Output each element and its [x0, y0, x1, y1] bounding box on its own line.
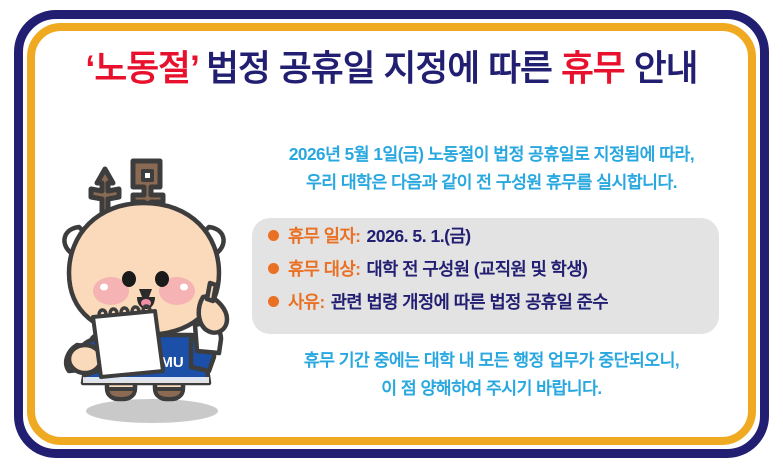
bullet-dot-icon	[268, 296, 279, 307]
intro-line-1: 2026년 5월 1일(금) 노동절이 법정 공휴일로 지정됨에 따라,	[235, 141, 748, 169]
list-item: 휴무 대상: 대학 전 구성원 (교직원 및 학생)	[252, 256, 719, 289]
outro-paragraph: 휴무 기간 중에는 대학 내 모든 행정 업무가 중단되오니, 이 점 양해하여…	[235, 347, 748, 403]
page-title: ‘노동절’ 법정 공휴일 지정에 따른 휴무 안내	[35, 51, 748, 87]
list-item: 사유: 관련 법령 개정에 따른 법정 공휴일 준수	[252, 289, 719, 322]
bullet-dot-icon	[268, 230, 279, 241]
outro-line-1: 휴무 기간 중에는 대학 내 모든 행정 업무가 중단되오니,	[235, 347, 748, 375]
outro-line-2: 이 점 양해하여 주시기 바랍니다.	[235, 375, 748, 403]
title-highlight-term: 휴무	[561, 48, 625, 88]
detail-label: 휴무 일자:	[288, 223, 361, 248]
mascot-eye-left	[122, 271, 136, 287]
title-middle-text: 법정 공휴일 지정에 따른	[198, 48, 561, 88]
list-item: 휴무 일자: 2026. 5. 1.(금)	[252, 223, 719, 256]
notice-poster: ‘노동절’ 법정 공휴일 지정에 따른 휴무 안내	[0, 0, 783, 468]
mascot-shadow	[86, 399, 218, 423]
detail-value: 관련 법령 개정에 따른 법정 공휴일 준수	[331, 289, 608, 314]
mascot-illustration: SMU	[59, 139, 245, 429]
bullet-dot-icon	[268, 263, 279, 274]
detail-value: 2026. 5. 1.(금)	[367, 223, 471, 248]
detail-value: 대학 전 구성원 (교직원 및 학생)	[367, 256, 588, 281]
mascot-notepad	[93, 306, 163, 377]
mascot-eye-right	[155, 271, 169, 287]
poster-content: ‘노동절’ 법정 공휴일 지정에 따른 휴무 안내	[35, 31, 748, 437]
title-quoted-term: ‘노동절’	[85, 48, 198, 88]
title-end-text: 안내	[625, 48, 698, 88]
detail-label: 사유:	[288, 289, 325, 314]
detail-label: 휴무 대상:	[288, 256, 361, 281]
intro-line-2: 우리 대학은 다음과 같이 전 구성원 휴무를 실시합니다.	[235, 169, 748, 197]
details-list: 휴무 일자: 2026. 5. 1.(금) 휴무 대상: 대학 전 구성원 (교…	[252, 223, 719, 322]
intro-paragraph: 2026년 5월 1일(금) 노동절이 법정 공휴일로 지정됨에 따라, 우리 …	[235, 141, 748, 197]
